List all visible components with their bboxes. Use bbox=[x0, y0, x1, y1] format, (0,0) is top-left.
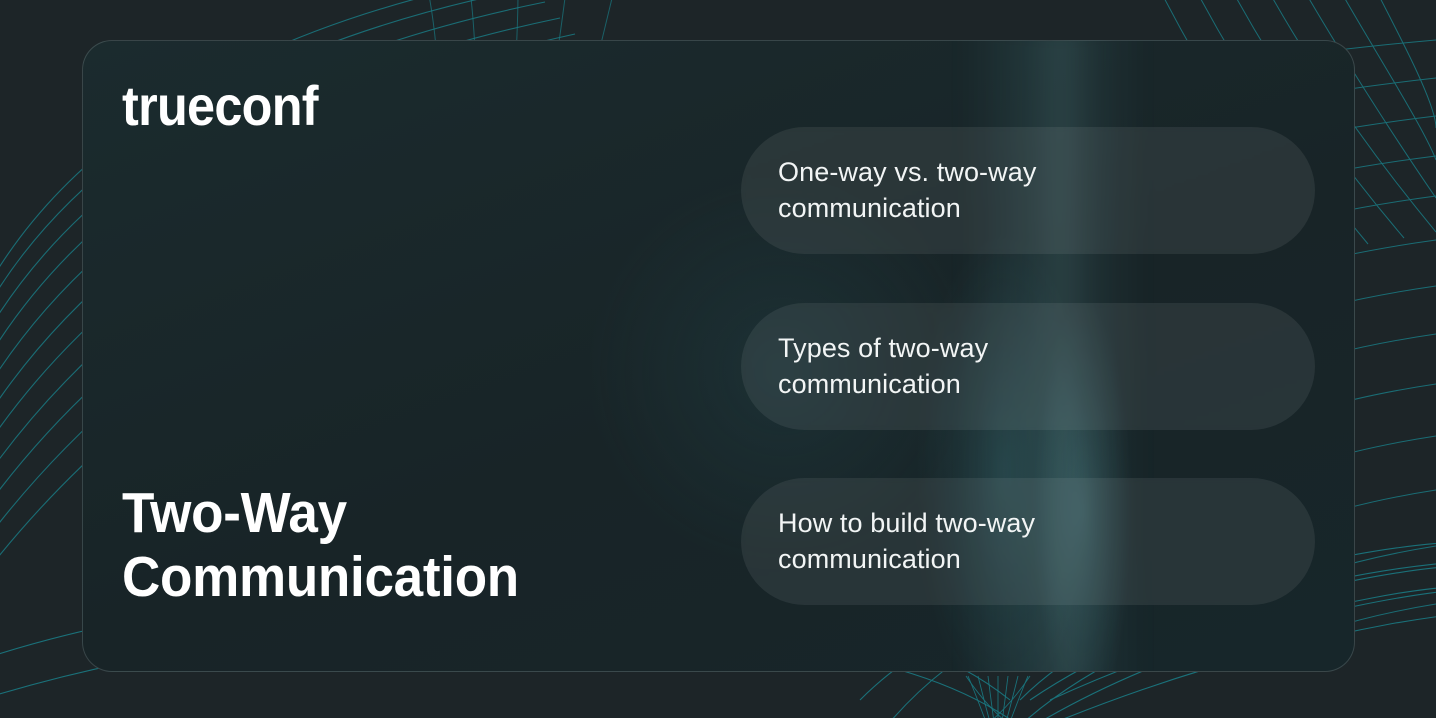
line-art-bottom-fan bbox=[966, 676, 1030, 718]
topic-card-line-2: communication bbox=[778, 191, 1036, 227]
page-title-line-2: Communication bbox=[122, 546, 643, 610]
topic-card-line-1: Types of two-way bbox=[778, 331, 988, 367]
topic-card-line-2: communication bbox=[778, 542, 1035, 578]
trueconf-logo: trueconf bbox=[122, 78, 318, 134]
page-title-line-1: Two-Way bbox=[122, 481, 347, 545]
topic-card-one-way-vs-two-way[interactable]: One-way vs. two-way communication bbox=[741, 127, 1315, 254]
page-title: Two-Way Communication bbox=[122, 482, 643, 610]
topic-card-line-2: communication bbox=[778, 367, 988, 403]
topic-card-line-1: How to build two-way bbox=[778, 506, 1035, 542]
topic-card-label: Types of two-way communication bbox=[778, 331, 988, 402]
slide-canvas: trueconf Two-Way Communication One-way v… bbox=[0, 0, 1436, 718]
topic-card-line-1: One-way vs. two-way bbox=[778, 155, 1036, 191]
topic-card-how-to-build-two-way[interactable]: How to build two-way communication bbox=[741, 478, 1315, 605]
topic-card-label: How to build two-way communication bbox=[778, 506, 1035, 577]
topic-card-types-of-two-way[interactable]: Types of two-way communication bbox=[741, 303, 1315, 430]
topic-card-label: One-way vs. two-way communication bbox=[778, 155, 1036, 226]
